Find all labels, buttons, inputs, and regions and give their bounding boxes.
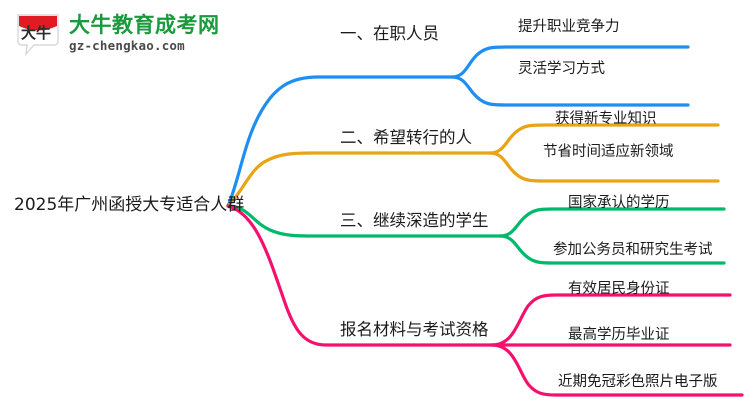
leaf-label-1-2[interactable]: 灵活学习方式 bbox=[518, 62, 605, 77]
mindmap-root-title: 2025年广州函授大专适合人群 bbox=[14, 197, 244, 214]
branch-3-fork-upper bbox=[500, 209, 724, 236]
branch-label-1[interactable]: 一、在职人员 bbox=[340, 26, 439, 43]
branch-2-trunk bbox=[228, 153, 490, 206]
mindmap-canvas: 大牛 大牛教育成考网 gz-chengkao.com 2025年广州函授大专适合… bbox=[0, 0, 750, 410]
leaf-label-4-3[interactable]: 近期免冠彩色照片电子版 bbox=[558, 375, 718, 390]
leaf-label-4-1[interactable]: 有效居民身份证 bbox=[568, 282, 670, 297]
branch-label-4[interactable]: 报名材料与考试资格 bbox=[340, 322, 489, 339]
leaf-label-3-2[interactable]: 参加公务员和研究生考试 bbox=[553, 243, 713, 258]
leaf-label-4-2[interactable]: 最高学历毕业证 bbox=[568, 328, 670, 343]
leaf-label-2-2[interactable]: 节省时间适应新领域 bbox=[543, 145, 674, 160]
branch-label-2[interactable]: 二、希望转行的人 bbox=[340, 130, 472, 147]
branch-1-fork-lower bbox=[452, 77, 688, 105]
leaf-label-3-1[interactable]: 国家承认的学历 bbox=[568, 196, 670, 211]
leaf-label-1-1[interactable]: 提升职业竞争力 bbox=[518, 20, 620, 35]
leaf-label-2-1[interactable]: 获得新专业知识 bbox=[555, 112, 657, 127]
branch-label-3[interactable]: 三、继续深造的学生 bbox=[340, 213, 489, 230]
